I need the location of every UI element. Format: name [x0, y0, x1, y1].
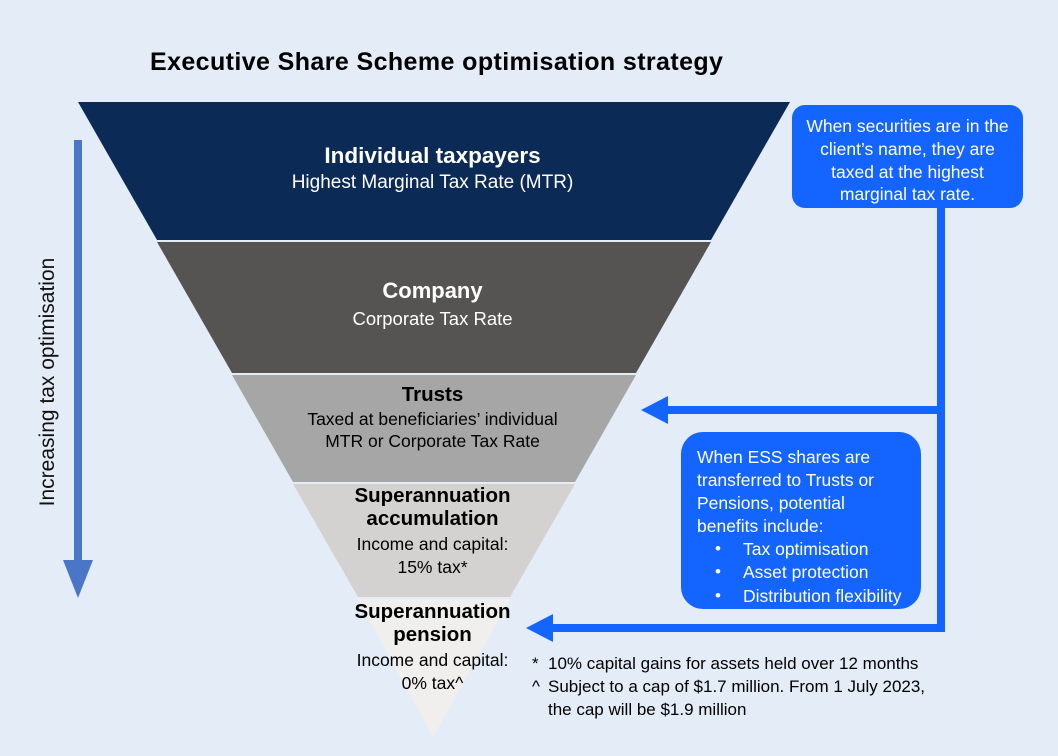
funnel-band-individual-taxpayers: [78, 102, 790, 240]
footnotes: * 10% capital gains for assets held over…: [532, 652, 992, 721]
funnel-band-company: [157, 242, 711, 373]
footnote-mark: ^: [532, 675, 540, 698]
funnel-band-trusts: [232, 375, 636, 482]
footnote-caret: ^ Subject to a cap of $1.7 million. From…: [532, 675, 992, 698]
footnote-text: Subject to a cap of $1.7 million. From 1…: [548, 677, 925, 696]
funnel-band-superannuation-pension: [358, 599, 510, 737]
footnote-text: the cap will be $1.9 million: [548, 700, 746, 719]
diagram-canvas: Executive Share Scheme optimisation stra…: [0, 0, 1058, 756]
footnote-asterisk: * 10% capital gains for assets held over…: [532, 652, 992, 675]
callout-ess-shares-transferred[interactable]: When ESS shares are transferred to Trust…: [681, 432, 921, 609]
footnote-mark: *: [532, 652, 539, 675]
callout-securities-in-client-name[interactable]: When securities are in the client’s name…: [792, 105, 1023, 208]
footnote-caret-continued: the cap will be $1.9 million: [532, 698, 992, 721]
list-item: Tax optimisation: [715, 538, 909, 562]
funnel-band-superannuation-accumulation: [293, 484, 575, 597]
list-item: Asset protection: [715, 561, 909, 585]
callout-lead-text: When ESS shares are transferred to Trust…: [697, 446, 909, 538]
list-item: Distribution flexibility: [715, 585, 909, 609]
callout-benefits-list: Tax optimisation Asset protection Distri…: [697, 538, 909, 609]
footnote-text: 10% capital gains for assets held over 1…: [548, 654, 918, 673]
